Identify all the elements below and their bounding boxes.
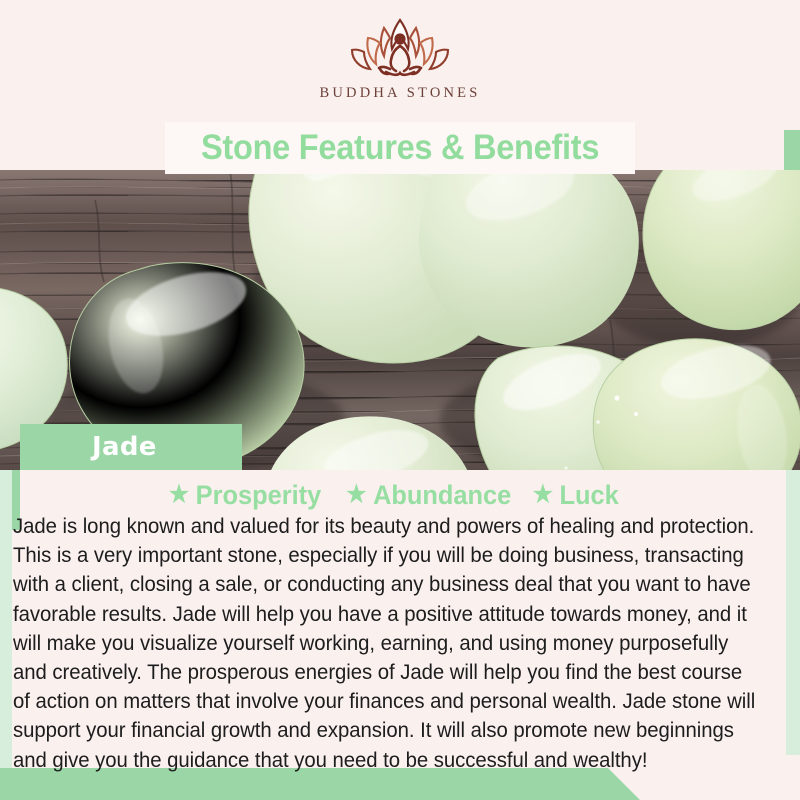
benefits-row: ★ Prosperity ★ Abundance ★ Luck: [0, 478, 800, 512]
benefit-label: Abundance: [373, 480, 511, 511]
title-banner: Stone Features & Benefits: [165, 122, 635, 174]
stone-name: Jade: [92, 432, 157, 462]
stone-name-chip: Jade: [20, 424, 242, 470]
brand-header: BUDDHA STONES: [0, 0, 800, 122]
star-icon: ★: [169, 483, 189, 507]
decor-band-left-pale: [0, 470, 12, 770]
stone-info-card: BUDDHA STONES Stone Features & Benefits: [0, 0, 800, 800]
benefit-item: ★ Prosperity: [169, 480, 321, 511]
lotus-meditation-figure-icon: [324, 16, 476, 82]
page-title: Stone Features & Benefits: [201, 128, 599, 168]
star-icon: ★: [533, 483, 553, 507]
benefit-label: Prosperity: [196, 480, 322, 511]
brand-name: BUDDHA STONES: [320, 85, 481, 102]
stone-description: Jade is long known and valued for its be…: [13, 512, 756, 775]
star-icon: ★: [346, 483, 366, 507]
benefit-item: ★ Luck: [533, 480, 619, 511]
benefit-label: Luck: [560, 480, 619, 511]
benefit-item: ★ Abundance: [346, 480, 511, 511]
